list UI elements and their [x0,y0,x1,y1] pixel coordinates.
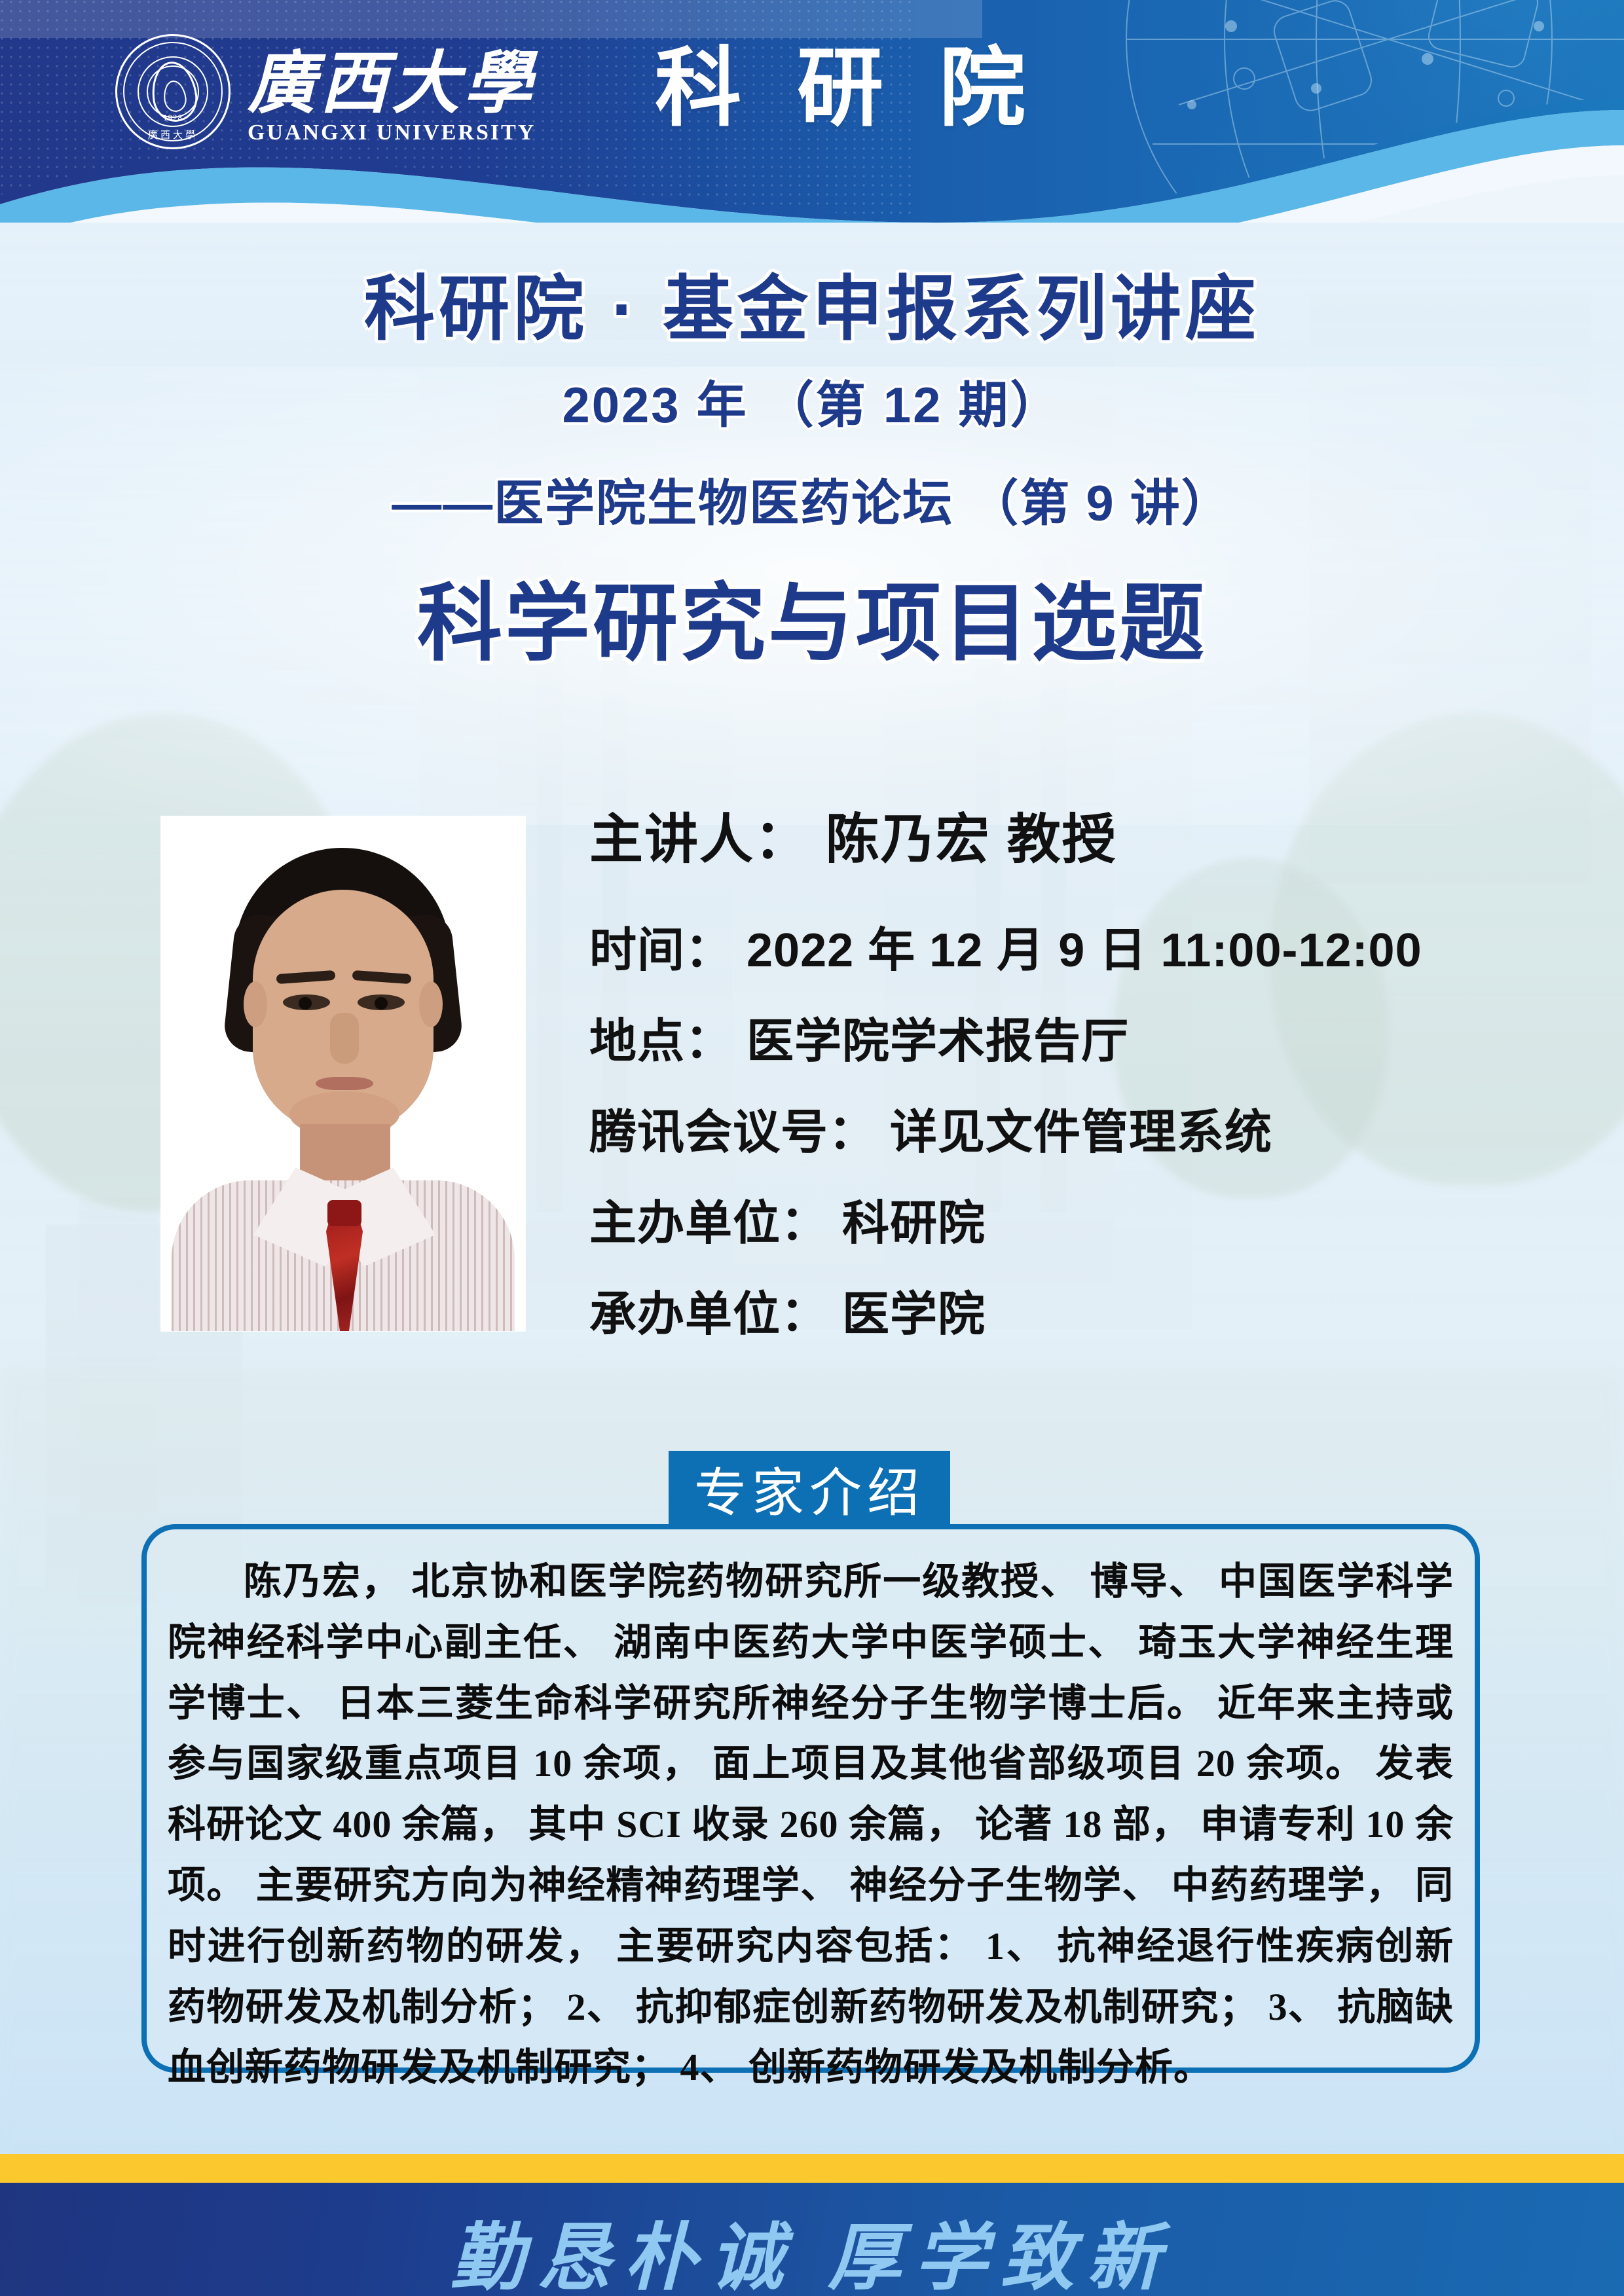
seal-year: 1928 [115,113,231,123]
expert-intro-badge: 专家介绍 [669,1451,950,1527]
expert-intro-badge-label: 专家介绍 [694,1451,925,1527]
unit-name-cn: 科 研 院 [655,18,1043,143]
title-block: 科研院 · 基金申报系列讲座 2023 年 （第 12 期） ——医学院生物医药… [0,267,1624,678]
detail-meeting-id: 腾讯会议号： 详见文件管理系统 [589,1093,1591,1162]
seal-name: 廣西大學 [115,128,231,141]
detail-organizer: 主办单位： 科研院 [589,1184,1591,1253]
lecture-topic: 科学研究与项目选题 [0,555,1624,678]
footer-yellow-bar [0,2154,1624,2183]
event-details: 主讲人： 陈乃宏 教授 时间： 2022 年 12 月 9 日 11:00-12… [589,795,1591,1366]
poster-root: 1928 廣西大學 廣西大學 GUANGXI UNIVERSITY 科 研 院 … [0,0,1624,2296]
lecture-forum: ——医学院生物医药论坛 （第 9 讲） [0,463,1624,535]
detail-co-organizer: 承办单位： 医学院 [589,1275,1591,1344]
detail-venue: 地点： 医学院学术报告厅 [589,1002,1591,1071]
university-logo-row: 1928 廣西大學 廣西大學 GUANGXI UNIVERSITY [115,34,536,149]
university-seal-icon: 1928 廣西大學 [115,34,231,149]
expert-bio-text: 陈乃宏， 北京协和医学院药物研究所一级教授、 博导、 中国医学科学院神经科学中心… [168,1552,1454,2098]
university-name-en: GUANGXI UNIVERSITY [248,120,536,145]
university-name-cn: 廣西大學 [248,50,536,119]
detail-time: 时间： 2022 年 12 月 9 日 11:00-12:00 [589,911,1591,980]
university-motto: 勤恳朴诚 厚学致新 [0,2198,1624,2296]
detail-speaker: 主讲人： 陈乃宏 教授 [589,795,1591,873]
lecture-issue: 2023 年 （第 12 期） [0,365,1624,437]
speaker-portrait [161,816,525,1331]
header-banner: 1928 廣西大學 廣西大學 GUANGXI UNIVERSITY 科 研 院 [0,0,1624,223]
university-wordmark: 廣西大學 GUANGXI UNIVERSITY [248,50,536,149]
lecture-series-title: 科研院 · 基金申报系列讲座 [0,267,1624,350]
